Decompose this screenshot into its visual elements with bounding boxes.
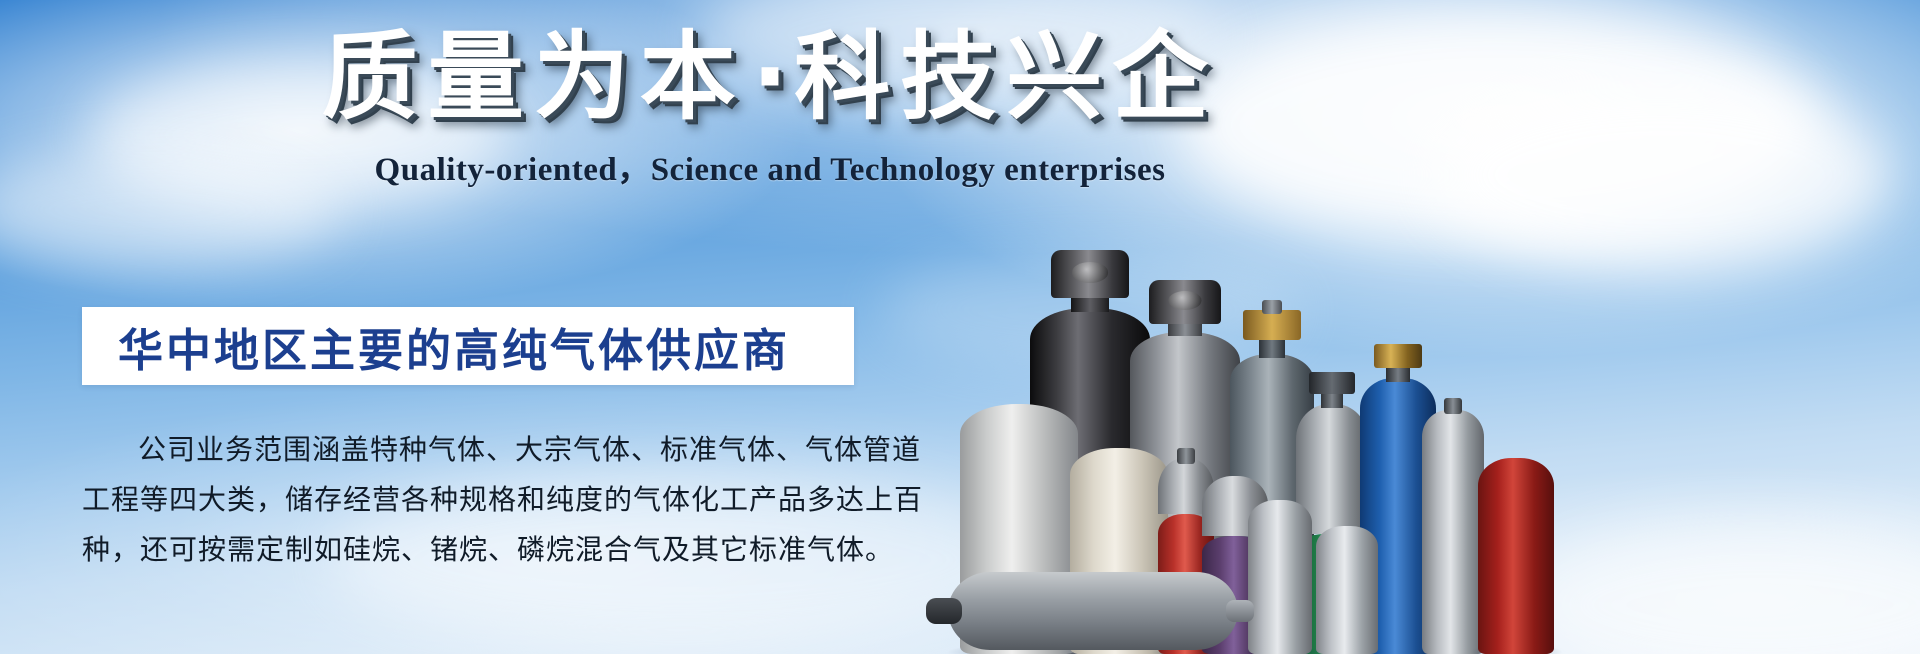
description-paragraph: 公司业务范围涵盖特种气体、大宗气体、标准气体、气体管道 工程等四大类，储存经营各… (82, 425, 872, 575)
aluminium-cylinder (1316, 522, 1378, 654)
horizontal-grey-tank (948, 572, 1238, 650)
paragraph-line: 公司业务范围涵盖特种气体、大宗气体、标准气体、气体管道 (82, 425, 872, 475)
gas-cylinders-photo (930, 150, 1920, 654)
paragraph-line: 工程等四大类，储存经营各种规格和纯度的气体化工产品多达上百 (82, 475, 872, 525)
headline-part-1: 质量为本 (322, 21, 746, 133)
aluminium-cylinder (1248, 496, 1312, 654)
promotional-banner: 质量为本·科技兴企 Quality-oriented，Science and T… (0, 0, 1920, 654)
aluminium-cylinder (1422, 406, 1484, 654)
cylinder-valve (1243, 310, 1301, 340)
tagline-text: 华中地区主要的高纯气体供应商 (82, 314, 790, 379)
paragraph-line: 种，还可按需定制如硅烷、锗烷、磷烷混合气及其它标准气体。 (82, 525, 872, 575)
headline-part-2: 科技兴企 (794, 21, 1218, 133)
banner-headline: 质量为本·科技兴企 (0, 26, 1540, 130)
tagline-box: 华中地区主要的高纯气体供应商 (82, 307, 854, 385)
cylinder-cap (1051, 250, 1129, 298)
headline-separator: · (746, 21, 794, 133)
dark-red-cylinder (1478, 454, 1554, 654)
